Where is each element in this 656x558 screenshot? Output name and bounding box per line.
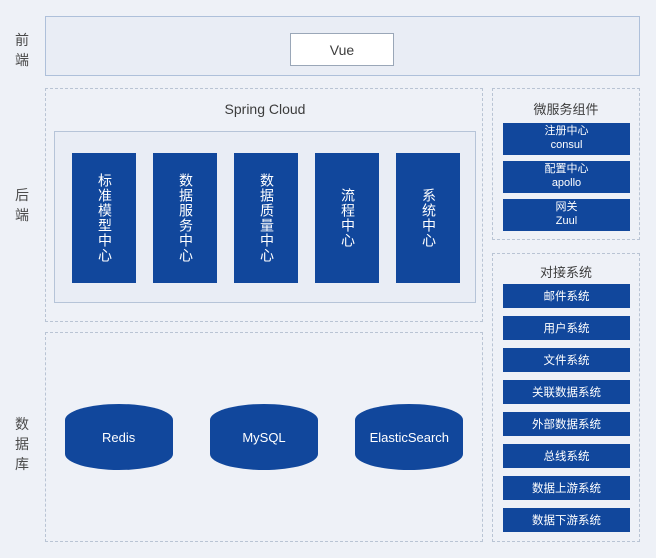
integration-systems-list: 邮件系统 用户系统 文件系统 关联数据系统 外部数据系统 总线系统 数据上游系统… [503, 284, 630, 532]
backend-layer-panel: Spring Cloud 标准模型中心 数据服务中心 数据质量中心 流程中心 系… [45, 88, 483, 322]
microservice-component-registry-tech: consul [551, 139, 583, 153]
row-label-database-char-3: 库 [0, 455, 44, 475]
microservice-component-gateway[interactable]: 网关 Zuul [503, 199, 630, 231]
service-center-data-quality-label: 数据质量中心 [257, 173, 275, 263]
row-label-backend-char-1: 后 [0, 186, 44, 206]
service-center-process-label: 流程中心 [338, 188, 356, 248]
database-layer-panel: Redis MySQL ElasticSearch [45, 332, 483, 542]
microservice-component-gateway-role: 网关 [556, 201, 578, 215]
integration-system-mail[interactable]: 邮件系统 [503, 284, 630, 308]
service-center-data-service-label: 数据服务中心 [176, 173, 194, 263]
row-label-frontend: 前 端 [0, 31, 44, 71]
microservice-components-title: 微服务组件 [493, 99, 639, 118]
database-node-redis-label: Redis [102, 430, 135, 445]
microservice-component-config-tech: apollo [552, 177, 581, 191]
integration-system-linked-data-label: 关联数据系统 [532, 384, 601, 400]
microservice-component-registry[interactable]: 注册中心 consul [503, 123, 630, 155]
integration-system-linked-data[interactable]: 关联数据系统 [503, 380, 630, 404]
integration-system-bus[interactable]: 总线系统 [503, 444, 630, 468]
service-center-standard-model-label: 标准模型中心 [95, 173, 113, 263]
database-node-redis[interactable]: Redis [65, 404, 173, 470]
integration-system-file-label: 文件系统 [544, 352, 590, 368]
integration-system-downstream-data[interactable]: 数据下游系统 [503, 508, 630, 532]
service-center-standard-model[interactable]: 标准模型中心 [72, 153, 136, 283]
service-center-system[interactable]: 系统中心 [396, 153, 460, 283]
service-center-process[interactable]: 流程中心 [315, 153, 379, 283]
service-center-data-service[interactable]: 数据服务中心 [153, 153, 217, 283]
architecture-diagram: 前 端 后 端 数 据 库 Vue Spring Cloud 标准模型中心 数据… [0, 0, 656, 558]
database-node-mysql[interactable]: MySQL [210, 404, 318, 470]
row-label-frontend-char-1: 前 [0, 31, 44, 51]
row-label-database-char-2: 据 [0, 435, 44, 455]
integration-system-user-label: 用户系统 [544, 320, 590, 336]
integration-system-upstream-data-label: 数据上游系统 [532, 480, 601, 496]
integration-systems-title: 对接系统 [493, 262, 639, 281]
microservice-components-list: 注册中心 consul 配置中心 apollo 网关 Zuul [503, 123, 630, 237]
spring-cloud-title: Spring Cloud [46, 101, 484, 117]
database-list: Redis MySQL ElasticSearch [46, 333, 482, 541]
row-label-database-char-1: 数 [0, 415, 44, 435]
row-label-database: 数 据 库 [0, 415, 44, 475]
integration-system-upstream-data[interactable]: 数据上游系统 [503, 476, 630, 500]
integration-system-external-data[interactable]: 外部数据系统 [503, 412, 630, 436]
integration-system-mail-label: 邮件系统 [544, 288, 590, 304]
integration-systems-panel: 对接系统 邮件系统 用户系统 文件系统 关联数据系统 外部数据系统 总线系统 数… [492, 253, 640, 542]
microservice-component-registry-role: 注册中心 [545, 125, 589, 139]
row-label-frontend-char-2: 端 [0, 51, 44, 71]
database-node-elasticsearch[interactable]: ElasticSearch [355, 404, 463, 470]
frontend-node-vue-label: Vue [330, 42, 354, 58]
integration-system-bus-label: 总线系统 [544, 448, 590, 464]
database-node-mysql-label: MySQL [242, 430, 285, 445]
spring-cloud-panel: 标准模型中心 数据服务中心 数据质量中心 流程中心 系统中心 [54, 131, 476, 303]
row-label-backend-char-2: 端 [0, 206, 44, 226]
integration-system-external-data-label: 外部数据系统 [532, 416, 601, 432]
service-center-data-quality[interactable]: 数据质量中心 [234, 153, 298, 283]
integration-system-file[interactable]: 文件系统 [503, 348, 630, 372]
microservice-component-gateway-tech: Zuul [556, 215, 577, 229]
service-center-system-label: 系统中心 [419, 188, 437, 248]
integration-system-user[interactable]: 用户系统 [503, 316, 630, 340]
microservice-component-config-role: 配置中心 [545, 163, 589, 177]
microservice-component-config[interactable]: 配置中心 apollo [503, 161, 630, 193]
service-center-list: 标准模型中心 数据服务中心 数据质量中心 流程中心 系统中心 [55, 132, 477, 304]
integration-system-downstream-data-label: 数据下游系统 [532, 512, 601, 528]
microservice-components-panel: 微服务组件 注册中心 consul 配置中心 apollo 网关 Zuul [492, 88, 640, 240]
row-label-backend: 后 端 [0, 186, 44, 226]
frontend-node-vue[interactable]: Vue [290, 33, 394, 66]
database-node-elasticsearch-label: ElasticSearch [370, 430, 449, 445]
